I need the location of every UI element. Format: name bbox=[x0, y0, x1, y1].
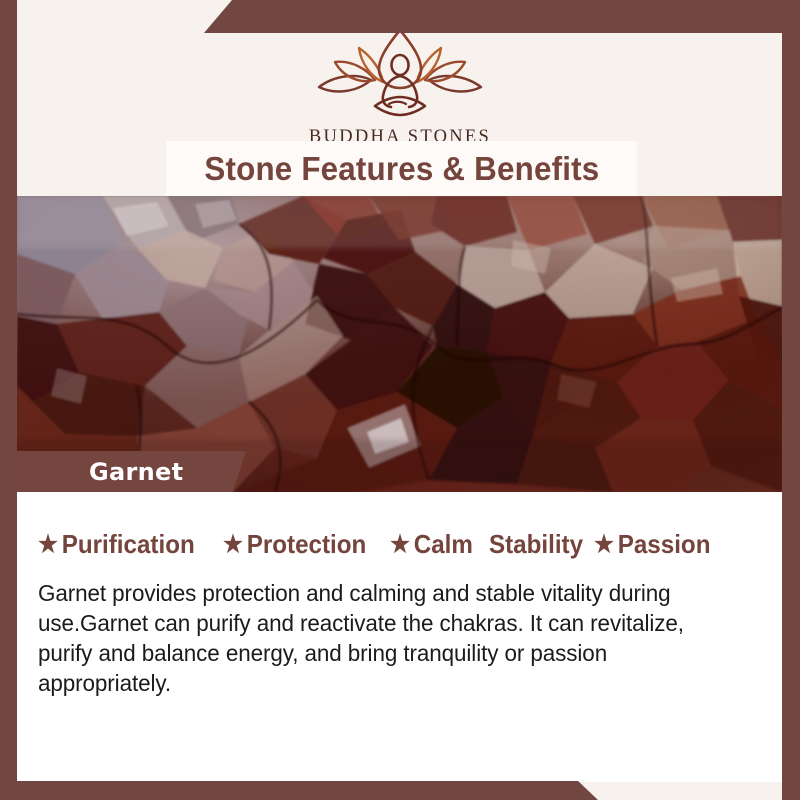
benefit-label: Passion bbox=[618, 529, 711, 560]
brand-block: BUDDHA STONES bbox=[0, 26, 800, 148]
benefit-label: Protection bbox=[246, 529, 366, 560]
benefit-label: Calm bbox=[413, 529, 472, 560]
benefit-item-passion: ★ Passion bbox=[594, 529, 710, 560]
stone-name-label: Garnet bbox=[89, 458, 183, 486]
page-title: Stone Features & Benefits bbox=[204, 150, 599, 188]
stone-name-tag: Garnet bbox=[17, 451, 246, 492]
benefit-item-purification: ★ Purification bbox=[38, 529, 195, 560]
star-icon: ★ bbox=[594, 533, 614, 557]
star-icon: ★ bbox=[38, 533, 58, 557]
benefit-item-calm: ★ Calm bbox=[390, 529, 473, 560]
benefits-row: ★ Purification ★ Protection ★ Calm Stabi… bbox=[38, 529, 768, 560]
title-band: Stone Features & Benefits bbox=[166, 141, 637, 196]
frame-left-border bbox=[0, 0, 17, 800]
benefit-label: Stability bbox=[489, 529, 583, 560]
benefit-item-stability: Stability bbox=[489, 529, 583, 560]
star-icon: ★ bbox=[390, 533, 410, 557]
stone-description: Garnet provides protection and calming a… bbox=[38, 578, 728, 698]
lotus-meditation-icon bbox=[305, 26, 495, 118]
frame-bottom-border bbox=[0, 781, 800, 800]
benefit-label: Purification bbox=[62, 529, 195, 560]
star-icon: ★ bbox=[223, 533, 243, 557]
garnet-crystal-cluster-photo bbox=[17, 196, 782, 492]
poster-root: BUDDHA STONES Stone Features & Benefits bbox=[0, 0, 800, 800]
frame-right-border bbox=[782, 0, 800, 800]
benefit-item-protection: ★ Protection bbox=[223, 529, 366, 560]
